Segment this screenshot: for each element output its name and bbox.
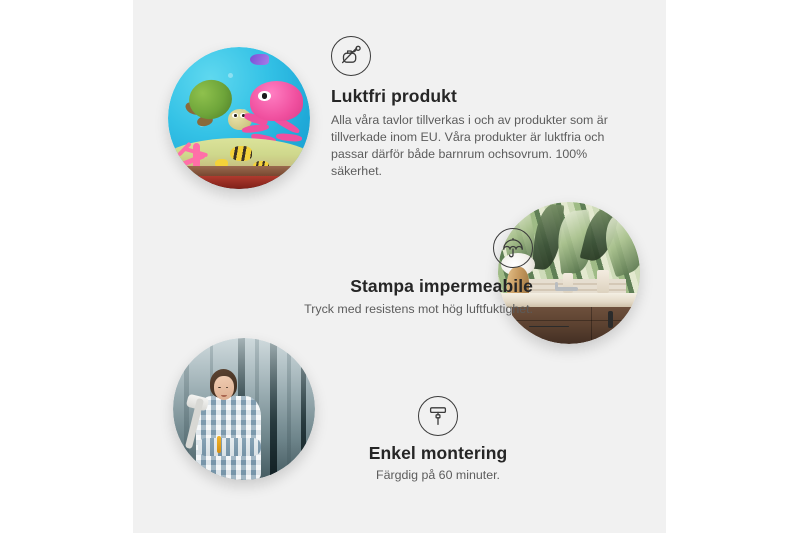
underwater-image xyxy=(168,47,310,189)
crossed-arms xyxy=(198,438,262,456)
feature-waterproof: Stampa impermeabile Tryck med resistens … xyxy=(193,228,533,318)
tree-trunk xyxy=(301,338,307,480)
soap-bottle xyxy=(597,270,608,293)
no-odour-spray-bottle-icon xyxy=(331,36,371,76)
drawer-divider xyxy=(512,320,640,321)
yellow-tool xyxy=(217,436,222,454)
tree-trunk xyxy=(287,338,291,480)
feature-description: Tryck med resistens mot hög luftfuktighe… xyxy=(193,301,533,318)
drawer-handle xyxy=(529,326,570,327)
feature-title: Luktfri produkt xyxy=(331,86,631,107)
eye xyxy=(218,387,221,388)
faucet xyxy=(555,287,578,291)
paint-roller-icon xyxy=(418,396,458,436)
turtle-illustration xyxy=(185,80,250,131)
feature-description: Alla våra tavlor tillverkas i och av pro… xyxy=(331,112,631,180)
turtle-eye xyxy=(232,113,238,118)
feature-easy-install: Enkel montering Färgdig på 60 minuter. xyxy=(311,396,561,484)
octopus-head xyxy=(250,81,304,121)
feature-title: Enkel montering xyxy=(311,443,561,464)
cabinet-divider xyxy=(591,307,592,344)
painter-image xyxy=(173,338,315,480)
octopus-tentacle xyxy=(241,123,269,134)
woman-illustration xyxy=(193,369,273,480)
feature-odourless: Luktfri produkt Alla våra tavlor tillver… xyxy=(331,36,631,180)
infographic-panel: Luktfri produkt Alla våra tavlor tillver… xyxy=(133,0,666,533)
feature-description: Färgdig på 60 minuter. xyxy=(311,467,561,484)
tree-trunk xyxy=(184,338,188,480)
feature-title: Stampa impermeabile xyxy=(193,276,533,297)
painter-woman-forest-circle xyxy=(173,338,315,480)
cabinet-handle xyxy=(608,311,613,328)
underwater-kids-mural-circle xyxy=(168,47,310,189)
red-sofa xyxy=(168,176,310,189)
faucet-stem xyxy=(555,282,559,291)
striped-fish-icon xyxy=(230,146,251,160)
bubble-icon xyxy=(228,73,233,78)
icon-wrapper xyxy=(311,396,561,436)
smile xyxy=(221,392,227,396)
umbrella-icon xyxy=(493,228,533,268)
eye xyxy=(226,387,229,388)
infographic-page: Luktfri produkt Alla våra tavlor tillver… xyxy=(0,0,800,533)
icon-wrapper xyxy=(193,228,533,268)
purple-fish-icon xyxy=(250,54,268,65)
octopus-eye xyxy=(258,91,271,102)
